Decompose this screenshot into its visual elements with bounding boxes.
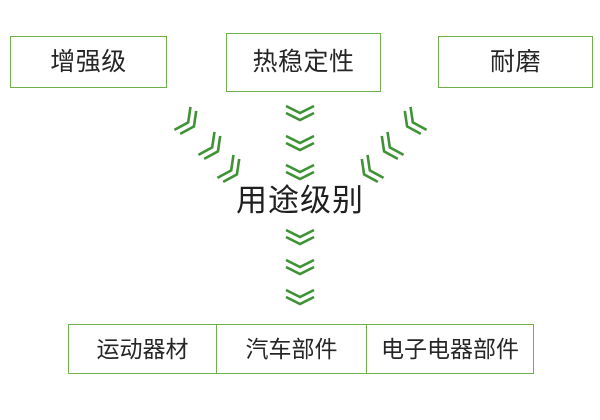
top-node-label-1: 增强级 — [50, 50, 127, 75]
bottom-node-box-3[interactable]: 电子电器部件 — [366, 324, 534, 374]
bottom-node-label-1: 运动器材 — [97, 338, 189, 361]
chevron-down-icon — [283, 133, 317, 155]
center-title-label: 用途级别 — [0, 185, 600, 216]
chevron-down-icon — [283, 287, 317, 309]
chevron-down-icon — [283, 227, 317, 249]
bottom-node-label-2: 汽车部件 — [246, 338, 338, 361]
bottom-node-box-2[interactable]: 汽车部件 — [216, 324, 366, 374]
top-node-box-1[interactable]: 增强级 — [10, 36, 167, 88]
bottom-node-row: 运动器材 汽车部件 电子电器部件 — [68, 324, 534, 374]
top-node-label-3: 耐磨 — [490, 50, 541, 75]
top-node-label-2: 热稳定性 — [252, 50, 354, 75]
bottom-node-label-3: 电子电器部件 — [381, 338, 519, 361]
chevron-down-icon — [283, 162, 317, 184]
process-flow-diagram: 增强级 热稳定性 耐磨 用途级别 运动器材 汽车部件 电子电器部件 — [0, 0, 600, 420]
chevron-down-icon — [283, 257, 317, 279]
bottom-node-box-1[interactable]: 运动器材 — [68, 324, 216, 374]
chevron-down-icon — [393, 103, 431, 143]
chevron-down-icon — [170, 103, 208, 143]
top-node-box-2[interactable]: 热稳定性 — [226, 33, 381, 92]
top-node-box-3[interactable]: 耐磨 — [438, 36, 593, 88]
chevron-down-icon — [283, 103, 317, 125]
